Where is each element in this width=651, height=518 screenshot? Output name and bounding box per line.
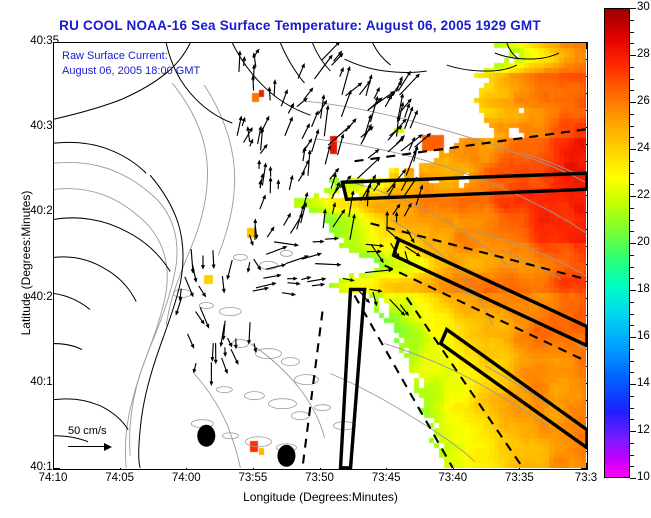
current-vector-arrow xyxy=(368,92,393,110)
shoal-contour xyxy=(173,289,191,297)
surface-current-vectors xyxy=(176,43,430,385)
current-vector-arrow xyxy=(374,88,379,98)
current-vector-arrow xyxy=(202,255,205,268)
colorbar-minor-tick xyxy=(630,267,634,268)
y-axis-label: Latitude (Degrees:Minutes) xyxy=(19,143,33,383)
current-vector-arrow xyxy=(332,203,335,214)
current-vector-arrow xyxy=(304,88,313,99)
current-vector-arrow xyxy=(389,82,402,100)
bathymetry-contour xyxy=(475,231,587,277)
colorbar-minor-tick xyxy=(630,161,634,162)
coastline xyxy=(447,65,517,71)
colorbar-minor-tick xyxy=(630,208,634,209)
current-vector-arrow xyxy=(277,181,280,190)
current-vector-arrow xyxy=(263,274,280,278)
colorbar-minor-tick xyxy=(630,90,634,91)
coastline xyxy=(166,43,232,123)
colorbar-tick-label: 18 xyxy=(637,283,650,295)
current-vector-arrow xyxy=(211,343,214,360)
colorbar-minor-tick xyxy=(630,361,634,362)
colorbar-minor-tick xyxy=(630,32,634,33)
shoal-contour xyxy=(314,405,330,411)
current-vector-arrow xyxy=(303,161,309,173)
coastline xyxy=(373,43,391,65)
y-axis-tick-label: 40:30 xyxy=(0,120,59,132)
current-vector-arrow xyxy=(350,215,355,240)
shoal-contour xyxy=(291,412,309,420)
traffic-separation-line xyxy=(371,223,587,279)
colorbar-minor-tick xyxy=(630,20,634,21)
current-vector-arrow xyxy=(227,260,232,279)
figure-root: RU COOL NOAA-16 Sea Surface Temperature:… xyxy=(0,0,651,518)
current-vector-arrow xyxy=(267,228,274,238)
current-vector-arrow xyxy=(260,196,265,210)
shoal-contour xyxy=(199,302,213,308)
colorbar-tick-mark xyxy=(630,55,636,56)
velocity-scale-label: 50 cm/s xyxy=(68,425,114,437)
current-vector-arrow xyxy=(308,151,311,176)
current-vector-arrow xyxy=(349,192,354,217)
colorbar-tick-mark xyxy=(630,290,636,291)
colorbar-tick-mark xyxy=(630,149,636,150)
bathymetry-contour xyxy=(304,101,587,183)
velocity-scale-legend: 50 cm/s xyxy=(68,425,114,453)
current-vector-arrow xyxy=(370,289,382,292)
coastline xyxy=(54,257,136,302)
current-vector-arrow xyxy=(410,111,417,128)
current-vector-arrow xyxy=(258,161,261,169)
current-vector-arrow xyxy=(231,349,238,364)
current-vector-arrow xyxy=(269,178,272,193)
current-vector-arrow xyxy=(222,358,228,373)
x-axis-tick-label: 74:00 xyxy=(156,472,216,484)
colorbar-tick-mark xyxy=(630,8,636,9)
colorbar-minor-tick xyxy=(630,173,634,174)
shoal-contour xyxy=(245,437,271,447)
shipping-lane xyxy=(394,239,587,345)
colorbar-tick-mark xyxy=(630,431,636,432)
current-vector-arrow xyxy=(288,282,300,285)
current-vector-arrow xyxy=(286,256,308,264)
station-marker[interactable] xyxy=(277,445,295,467)
current-vector-arrow xyxy=(333,210,345,227)
colorbar-minor-tick xyxy=(630,79,634,80)
current-vector-arrow xyxy=(346,83,362,96)
shipping-lane xyxy=(341,289,365,467)
station-marker[interactable] xyxy=(197,425,215,447)
colorbar-minor-tick xyxy=(630,184,634,185)
figure-title: RU COOL NOAA-16 Sea Surface Temperature:… xyxy=(0,18,600,33)
coastline xyxy=(139,175,183,468)
current-vector-arrow xyxy=(321,95,325,118)
current-vector-arrow xyxy=(222,276,225,292)
colorbar-minor-tick xyxy=(630,302,634,303)
colorbar-minor-tick xyxy=(630,408,634,409)
current-vector-arrow xyxy=(397,94,403,121)
coastline xyxy=(54,218,170,272)
current-vector-arrow xyxy=(338,135,344,155)
current-vector-arrow xyxy=(185,277,193,296)
colorbar-minor-tick xyxy=(630,466,634,467)
shoal-contour xyxy=(219,307,241,315)
current-vector-arrow xyxy=(325,146,330,164)
current-vector-arrow xyxy=(388,230,398,239)
current-vector-arrow xyxy=(287,277,296,280)
current-vector-arrow xyxy=(289,176,293,190)
current-vector-arrow xyxy=(212,250,215,267)
coastline xyxy=(54,344,82,350)
x-axis-tick-label: 73:40 xyxy=(423,472,483,484)
current-vector-arrow xyxy=(346,119,356,131)
current-vector-arrow xyxy=(238,52,241,72)
coastline xyxy=(495,53,559,59)
current-vector-arrow xyxy=(404,204,411,216)
coastline xyxy=(312,43,330,71)
bathymetry-contour xyxy=(54,162,177,455)
colorbar-tick-label: 10 xyxy=(637,471,650,483)
x-axis-tick-label: 73:35 xyxy=(489,472,549,484)
current-vector-arrow xyxy=(312,130,319,152)
current-vector-arrow xyxy=(343,278,353,281)
current-vector-arrow xyxy=(373,292,377,305)
current-vector-arrow xyxy=(340,68,344,76)
current-vector-arrow xyxy=(298,172,304,181)
colorbar-tick-mark xyxy=(630,243,636,244)
current-vector-arrow xyxy=(388,138,403,152)
current-vector-arrow xyxy=(284,214,291,226)
colorbar-minor-tick xyxy=(630,137,634,138)
colorbar-tick-label: 20 xyxy=(637,236,650,248)
current-vector-arrow xyxy=(323,210,326,228)
coastline xyxy=(280,43,304,83)
bathymetry-contour xyxy=(453,289,587,349)
colorbar-minor-tick xyxy=(630,443,634,444)
current-vector-arrow xyxy=(222,321,225,339)
current-vector-arrow xyxy=(268,88,271,101)
current-vector-arrow xyxy=(325,237,338,240)
current-vector-arrow xyxy=(370,97,378,122)
colorbar-minor-tick xyxy=(630,43,634,44)
current-vector-arrow xyxy=(224,347,227,355)
colorbar-minor-tick xyxy=(630,67,634,68)
colorbar-minor-tick xyxy=(630,126,634,127)
shoal-contour xyxy=(216,387,232,393)
current-vector-arrow xyxy=(247,262,250,271)
current-vector-arrow xyxy=(298,64,304,78)
x-axis-tick-label: 74:05 xyxy=(90,472,150,484)
current-vector-arrow xyxy=(290,215,302,234)
colorbar-tick-label: 28 xyxy=(637,48,650,60)
current-vector-arrow xyxy=(415,134,431,147)
colorbar-minor-tick xyxy=(630,325,634,326)
current-vector-arrow xyxy=(302,124,309,139)
current-vector-arrow xyxy=(365,269,392,273)
current-vector-arrow xyxy=(313,240,324,243)
current-vector-arrow xyxy=(297,99,307,107)
traffic-separation-line xyxy=(355,295,453,467)
colorbar-minor-tick xyxy=(630,419,634,420)
current-vector-arrow xyxy=(312,112,318,127)
current-vector-arrow xyxy=(282,293,295,296)
colorbar-tick-mark xyxy=(630,337,636,338)
shoal-contour xyxy=(233,254,247,260)
current-vector-arrow xyxy=(269,167,272,176)
colorbar-minor-tick xyxy=(630,396,634,397)
current-vector-arrow xyxy=(176,298,182,314)
right-arrow-icon xyxy=(68,441,114,453)
coastline xyxy=(54,43,190,119)
current-vector-arrow xyxy=(366,244,383,247)
colorbar-tick-mark xyxy=(630,102,636,103)
colorbar-tick-label: 12 xyxy=(637,424,650,436)
colorbar-minor-tick xyxy=(630,314,634,315)
x-axis-tick-label: 74:10 xyxy=(23,472,83,484)
current-vector-arrow xyxy=(214,343,217,363)
bathymetry-contour xyxy=(316,139,586,233)
current-vector-arrow xyxy=(250,140,253,147)
current-vector-arrow xyxy=(395,213,398,222)
colorbar-minor-tick xyxy=(630,255,634,256)
shoal-contour xyxy=(280,250,292,256)
current-vector-arrow xyxy=(368,150,378,158)
colorbar-tick-label: 14 xyxy=(637,377,650,389)
current-vector-arrow xyxy=(301,277,310,280)
shoal-contour xyxy=(244,392,264,400)
current-vector-arrow xyxy=(193,363,196,372)
bathymetry-contour xyxy=(523,153,579,175)
colorbar[interactable] xyxy=(604,8,630,478)
colorbar-minor-tick xyxy=(630,278,634,279)
colorbar-tick-label: 24 xyxy=(637,142,650,154)
coastline xyxy=(232,43,310,115)
traffic-separation-line xyxy=(302,312,322,468)
x-axis-tick-label: 73:45 xyxy=(356,472,416,484)
x-axis-tick-label: 73:55 xyxy=(223,472,283,484)
current-vector-arrow xyxy=(249,235,253,245)
colorbar-minor-tick xyxy=(630,455,634,456)
current-vector-arrow xyxy=(312,283,324,286)
current-vector-arrow xyxy=(253,287,268,291)
current-vector-arrow xyxy=(307,278,325,282)
current-vector-arrow xyxy=(252,76,255,90)
current-vector-arrow xyxy=(332,183,339,199)
x-axis-label: Longitude (Degrees:Minutes) xyxy=(53,490,588,504)
current-vector-arrow xyxy=(285,118,292,136)
shoal-contour xyxy=(281,358,299,366)
current-vector-arrow xyxy=(361,125,371,145)
colorbar-tick-label: 16 xyxy=(637,330,650,342)
y-axis-tick-label: 40:35 xyxy=(0,35,59,47)
colorbar-tick-mark xyxy=(630,478,636,479)
coastline xyxy=(54,142,146,173)
colorbar-minor-tick xyxy=(630,220,634,221)
current-vector-arrow xyxy=(274,242,298,246)
colorbar-tick-label: 30 xyxy=(637,1,650,13)
shoal-contour xyxy=(268,399,296,409)
current-vector-arrow xyxy=(228,338,232,346)
colorbar-tick-mark xyxy=(630,196,636,197)
colorbar-tick-mark xyxy=(630,384,636,385)
colorbar-minor-tick xyxy=(630,231,634,232)
shipping-lane xyxy=(343,173,587,199)
current-vector-arrow xyxy=(237,117,242,136)
colorbar-tick-label: 22 xyxy=(637,189,650,201)
current-vector-arrow xyxy=(332,54,343,65)
current-vector-arrow xyxy=(188,334,194,348)
colorbar-minor-tick xyxy=(630,114,634,115)
current-vector-arrow xyxy=(199,286,206,296)
map-plot-area[interactable]: Raw Surface Current: August 06, 2005 18:… xyxy=(53,42,588,470)
map-overlay-layer xyxy=(54,43,587,469)
current-vector-arrow xyxy=(210,362,213,384)
colorbar-minor-tick xyxy=(630,372,634,373)
shipping-lane xyxy=(441,330,587,448)
current-vector-arrow xyxy=(248,322,251,343)
colorbar-tick-label: 26 xyxy=(637,95,650,107)
colorbar-minor-tick xyxy=(630,349,634,350)
coastline xyxy=(54,293,90,309)
x-axis-tick-label: 73:50 xyxy=(290,472,350,484)
current-vector-arrow xyxy=(242,118,245,126)
current-vector-arrow xyxy=(324,106,329,136)
current-vector-arrow xyxy=(315,263,340,266)
current-vector-arrow xyxy=(266,264,285,269)
current-vector-arrow xyxy=(274,81,277,97)
current-vector-arrow xyxy=(367,250,381,253)
traffic-separation-line xyxy=(355,129,587,161)
